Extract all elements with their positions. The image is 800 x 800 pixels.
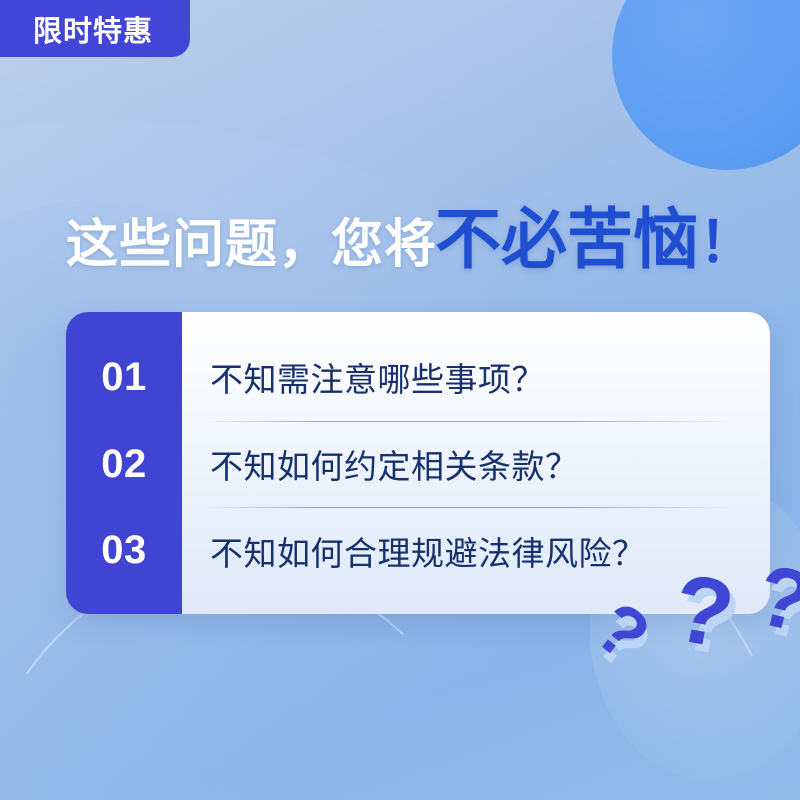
question-mark-icon: ? ?: [666, 560, 740, 665]
item-text-03: 不知如何合理规避法律风险？: [210, 527, 646, 575]
limited-offer-badge: 限时特惠: [0, 0, 190, 57]
limited-offer-badge-label: 限时特惠: [33, 8, 153, 50]
item-text-01: 不知需注意哪些事项？: [210, 353, 545, 401]
card-number-rail: 01 02 03: [66, 312, 182, 614]
item-number-02: 02: [66, 421, 182, 508]
promo-poster: 限时特惠 这些问题，您将 不必苦恼 ！ 01 02 03 不知需注意哪些事项？ …: [0, 0, 800, 800]
headline-lead: 这些问题，您将: [66, 202, 437, 277]
headline-emphasis: 不必苦恼: [435, 186, 699, 282]
question-mark-icon-fill: ?: [747, 546, 800, 652]
headline-exclamation: ！: [699, 198, 755, 279]
list-item: 不知如何约定相关条款？: [182, 421, 770, 508]
item-text-02: 不知如何约定相关条款？: [210, 440, 579, 488]
background-circle-top-right: [612, 0, 800, 170]
question-mark-icon: ? ?: [748, 551, 800, 647]
page-title: 这些问题，您将 不必苦恼 ！: [66, 186, 755, 282]
question-mark-decoration: ? ? ? ? ? ?: [596, 556, 800, 686]
item-number-01: 01: [66, 334, 182, 421]
list-item: 不知需注意哪些事项？: [182, 334, 770, 421]
item-number-03: 03: [66, 507, 182, 594]
